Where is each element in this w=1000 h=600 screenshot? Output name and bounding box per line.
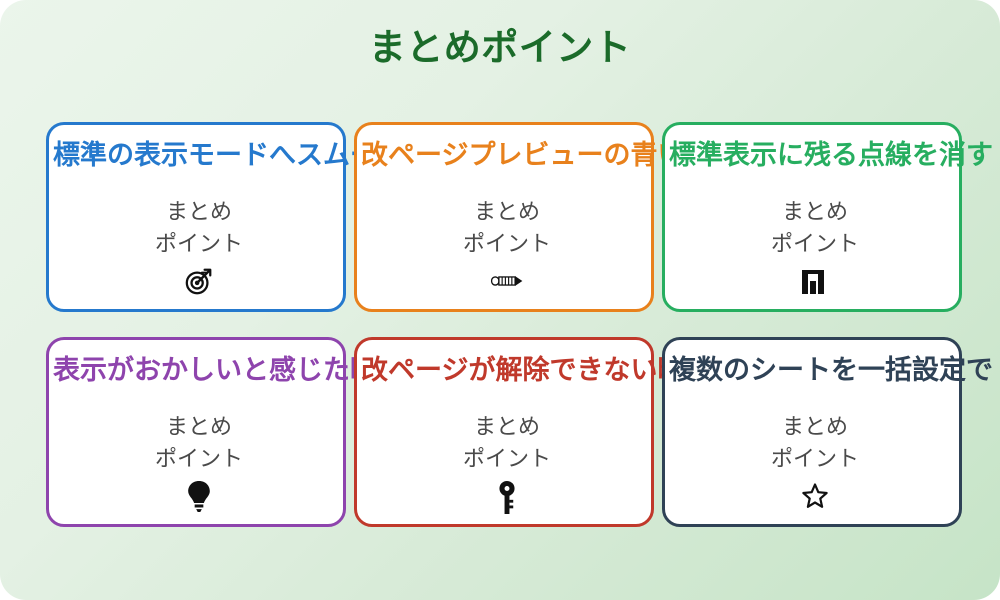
bar-chart-icon xyxy=(665,265,965,296)
summary-card[interactable]: 表示がおかしいと感じた時 まとめ ポイント xyxy=(46,337,346,527)
summary-card[interactable]: 改ページが解除できない時 まとめ ポイント xyxy=(354,337,654,527)
star-icon xyxy=(665,480,965,510)
dart-target-icon xyxy=(49,265,349,296)
card-body: まとめ ポイント xyxy=(665,197,965,261)
card-body: まとめ ポイント xyxy=(49,412,349,476)
key-icon xyxy=(357,480,657,514)
card-title: 標準の表示モードへスムー xyxy=(53,139,345,173)
card-body: まとめ ポイント xyxy=(49,197,349,261)
card-body: まとめ ポイント xyxy=(357,412,657,476)
card-title: 複数のシートを一括設定で xyxy=(669,354,961,388)
card-body: まとめ ポイント xyxy=(357,197,657,261)
page-title: まとめポイント xyxy=(0,26,1000,70)
summary-card[interactable]: 複数のシートを一括設定で まとめ ポイント xyxy=(662,337,962,527)
lightbulb-icon xyxy=(49,480,349,512)
pencil-icon xyxy=(357,265,657,295)
summary-card[interactable]: 標準表示に残る点線を消す まとめ ポイント xyxy=(662,122,962,312)
card-title: 標準表示に残る点線を消す xyxy=(669,139,961,173)
card-title: 改ページが解除できない時 xyxy=(361,354,653,388)
card-title: 改ページプレビューの青い xyxy=(361,139,653,173)
summary-card[interactable]: 標準の表示モードへスムー まとめ ポイント xyxy=(46,122,346,312)
card-body: まとめ ポイント xyxy=(665,412,965,476)
card-grid: 標準の表示モードへスムー まとめ ポイント 改ページプレビューの青い まとめ ポ… xyxy=(46,122,962,527)
summary-points-slide: まとめポイント 標準の表示モードへスムー まとめ ポイント 改ページプレビューの… xyxy=(0,0,1000,600)
card-title: 表示がおかしいと感じた時 xyxy=(53,354,345,388)
summary-card[interactable]: 改ページプレビューの青い まとめ ポイント xyxy=(354,122,654,312)
